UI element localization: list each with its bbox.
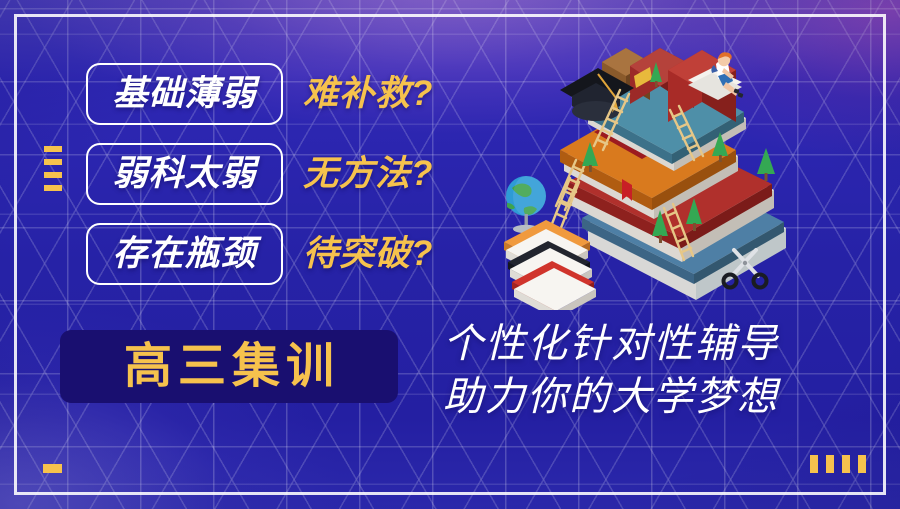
page-title: 高三集训 (118, 343, 340, 391)
gold-bar (826, 455, 834, 473)
problem-pill-2: 弱科太弱 (86, 143, 283, 205)
problem-question-3: 待突破? (303, 236, 433, 271)
tagline-line-2: 助力你的大学梦想 (443, 371, 779, 424)
problem-pill-1: 基础薄弱 (86, 63, 283, 125)
problem-pill-3: 存在瓶颈 (86, 223, 283, 285)
gold-bar (44, 159, 62, 165)
problem-rows: 基础薄弱 难补救? 弱科太弱 无方法? 存在瓶颈 待突破? (86, 62, 433, 302)
problem-question-1: 难补救? (303, 76, 433, 111)
problem-row: 基础薄弱 难补救? (86, 62, 433, 125)
book-stack-illustration (498, 38, 818, 310)
problem-pill-label: 弱科太弱 (112, 156, 256, 191)
pine-tree (757, 148, 775, 181)
problem-pill-label: 基础薄弱 (112, 76, 256, 111)
problem-question-2: 无方法? (303, 156, 433, 191)
gold-bar (810, 455, 818, 473)
gold-bar (44, 172, 62, 178)
gold-bar (858, 455, 866, 473)
gold-bar (842, 455, 850, 473)
promo-banner: 基础薄弱 难补救? 弱科太弱 无方法? 存在瓶颈 待突破? 高三集训 个性化针对… (0, 0, 900, 509)
left-gold-bars-decoration (44, 146, 62, 191)
problem-pill-label: 存在瓶颈 (112, 236, 256, 271)
small-book-stack (504, 220, 596, 310)
tagline-line-1: 个性化针对性辅导 (443, 318, 779, 371)
bottom-left-gold-dash (43, 464, 62, 473)
gold-bar (44, 185, 62, 191)
problem-row: 弱科太弱 无方法? (86, 142, 433, 205)
gold-bar (44, 146, 62, 152)
problem-row: 存在瓶颈 待突破? (86, 222, 433, 285)
main-title-plate: 高三集训 (60, 330, 398, 403)
bottom-right-gold-bars (810, 455, 866, 473)
tagline: 个性化针对性辅导 助力你的大学梦想 (443, 318, 779, 424)
